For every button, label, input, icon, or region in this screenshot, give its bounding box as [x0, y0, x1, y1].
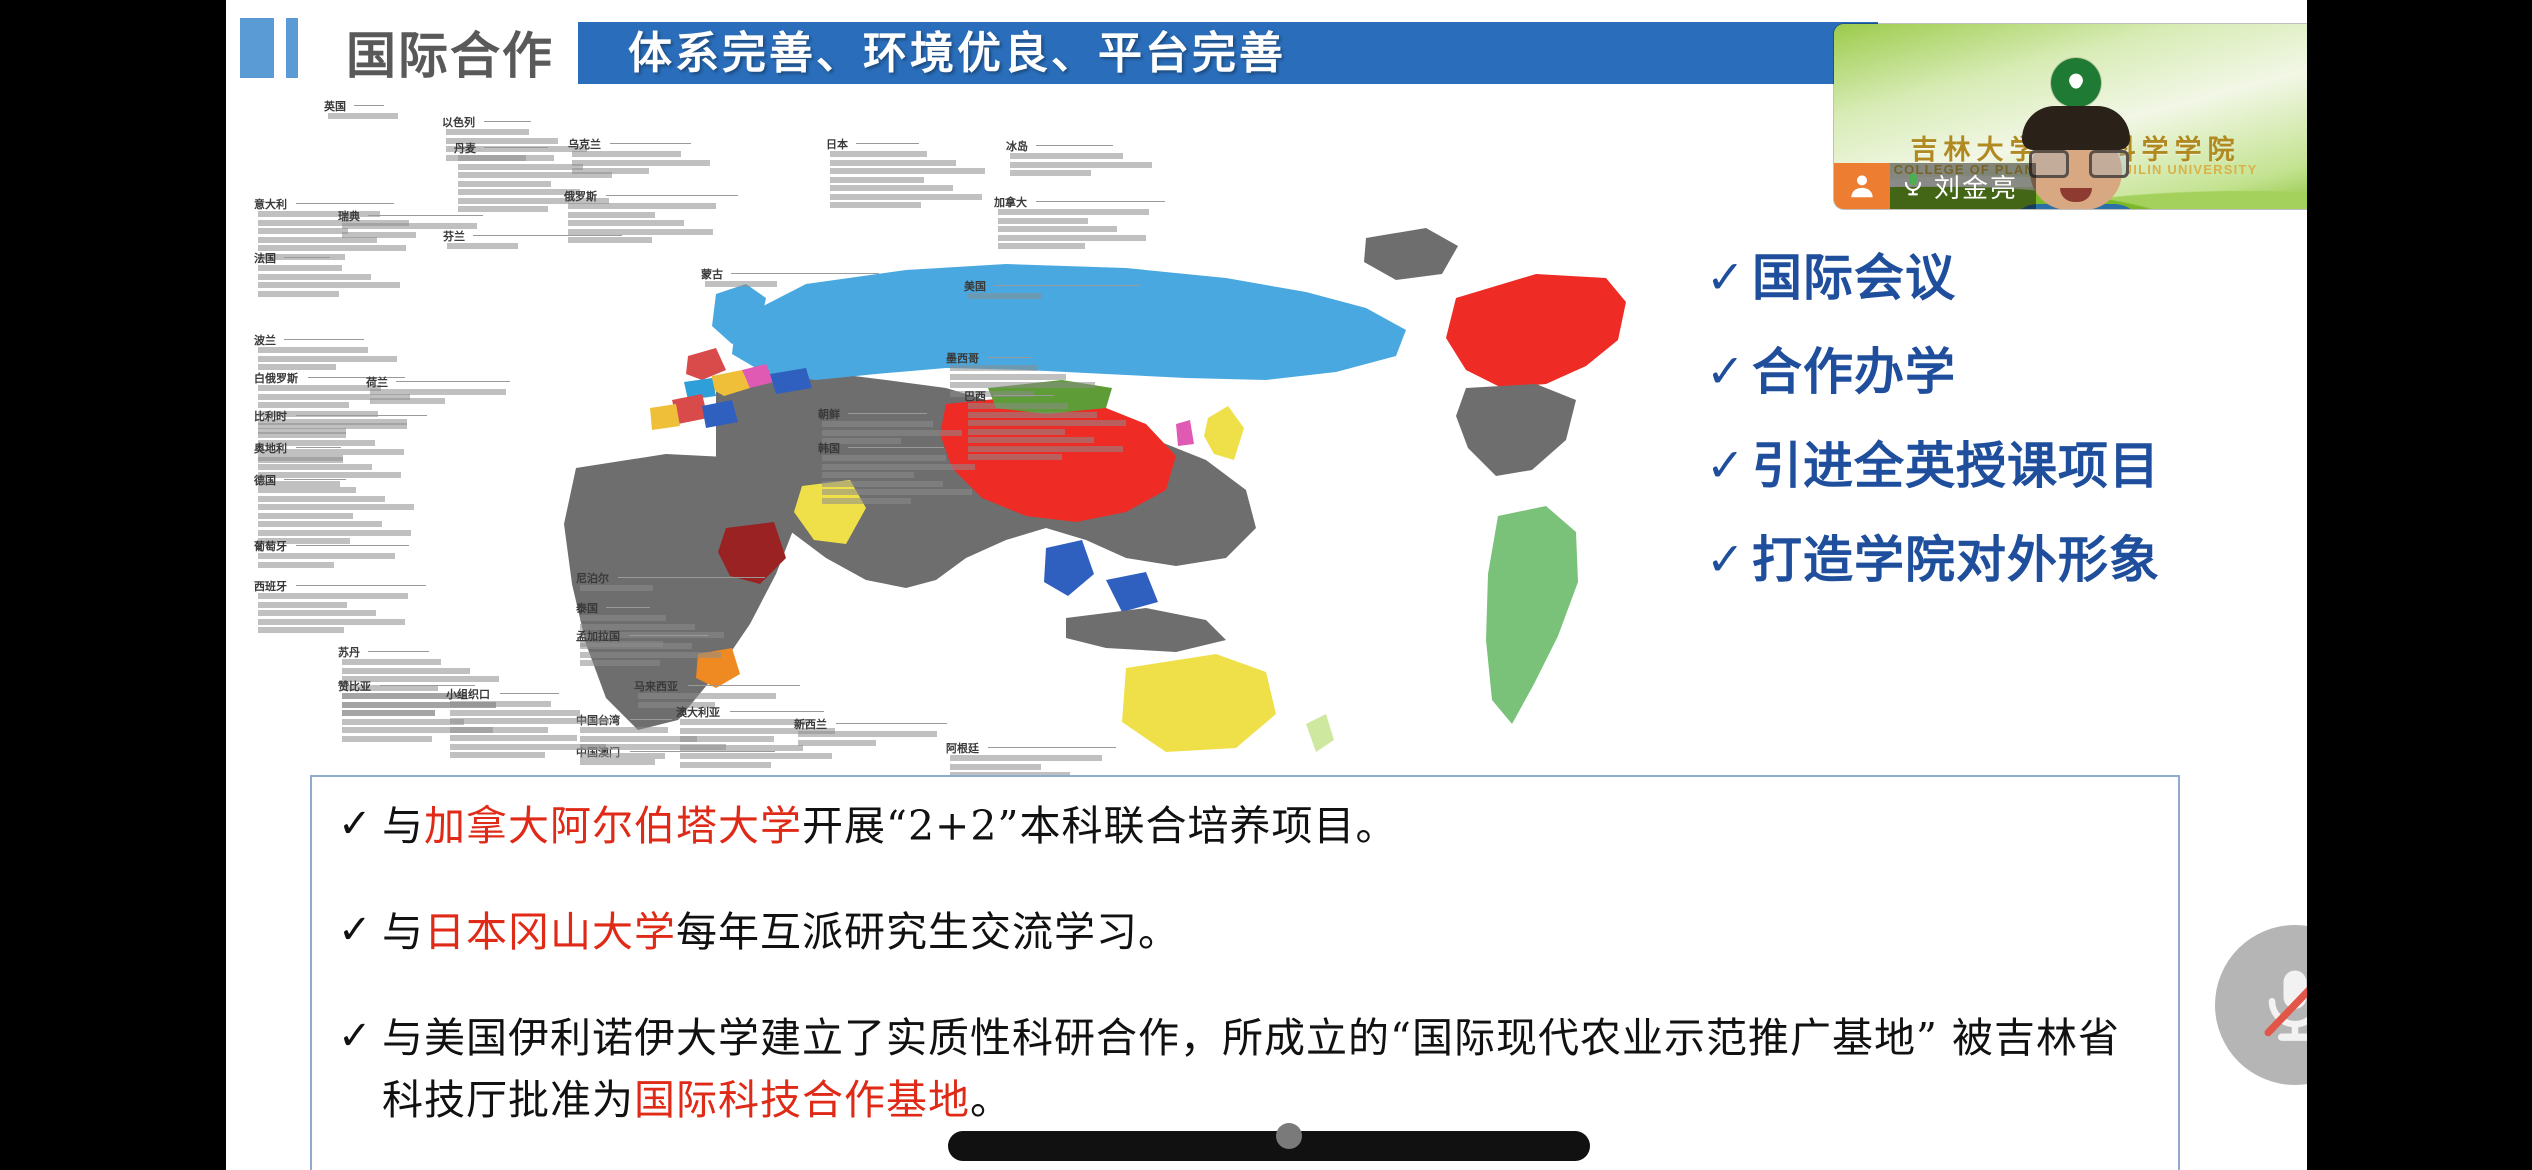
map-leader-line [856, 143, 919, 144]
map-country-label: 赞比亚 [338, 678, 371, 694]
map-leader-line [606, 607, 650, 608]
bullet-label: 打造学院对外形象 [1752, 532, 2160, 588]
map-leader-line [848, 447, 944, 448]
map-university-list [258, 553, 395, 570]
map-country-label: 比利时 [254, 408, 287, 424]
map-country-label: 白俄罗斯 [254, 370, 298, 386]
map-country-label: 尼泊尔 [576, 570, 609, 586]
map-university-list [447, 243, 518, 252]
check-icon: ✓ [338, 795, 382, 853]
map-leader-line [618, 577, 765, 578]
map-leader-line [354, 105, 384, 106]
map-country-label: 冰岛 [1006, 138, 1028, 154]
bullet-label: 引进全英授课项目 [1752, 438, 2160, 494]
map-leader-line [296, 203, 394, 204]
map-country-label: 新西兰 [794, 716, 827, 732]
check-icon: ✓ [338, 1007, 382, 1065]
world-map: 英国以色列丹麦乌克兰意大利瑞典俄罗斯芬兰法国日本波兰白俄罗斯荷兰比利时蒙古奥地利… [246, 88, 1626, 768]
map-leader-line [630, 719, 672, 720]
participant-video-tile[interactable]: 吉林大学植物科学学院 COLLEGE OF PLANT SCIENCE, JIL… [1834, 24, 2317, 209]
letterbox-left [0, 0, 226, 1170]
map-university-list [822, 421, 962, 447]
map-university-list [1010, 153, 1152, 179]
toolbar-handle-dot[interactable] [1276, 1123, 1302, 1149]
bullet-item-1: ✓国际会议 [1706, 250, 2286, 306]
map-country-label: 苏丹 [338, 644, 360, 660]
map-leader-line [988, 747, 1116, 748]
check-icon: ✓ [1706, 344, 1752, 398]
map-university-list [822, 455, 975, 506]
map-leader-line [296, 447, 341, 448]
map-leader-line [484, 147, 548, 148]
map-university-list [830, 151, 985, 211]
map-university-list [968, 293, 1042, 302]
note-text-segment: 与 [382, 802, 424, 850]
map-country-label: 阿根廷 [946, 740, 979, 756]
note-text: 与日本冈山大学每年互派研究生交流学习。 [382, 901, 1180, 963]
map-leader-line [994, 285, 1140, 286]
map-leader-line [368, 215, 483, 216]
participant-hair [2022, 106, 2130, 150]
map-leader-line [688, 685, 800, 686]
map-country-label: 葡萄牙 [254, 538, 287, 554]
map-university-list [258, 347, 397, 373]
letterbox-right [2307, 0, 2532, 1170]
map-university-list [568, 203, 716, 246]
note-text-segment: 。 [970, 1076, 1012, 1124]
bullet-item-3: ✓引进全英授课项目 [1706, 438, 2286, 494]
map-country-label: 巴西 [964, 388, 986, 404]
map-leader-line [296, 545, 409, 546]
bullet-item-4: ✓打造学院对外形象 [1706, 532, 2286, 588]
map-university-list [998, 209, 1149, 252]
note-text: 与加拿大阿尔伯塔大学开展“2+2”本科联合培养项目。 [382, 795, 1397, 857]
section-banner-text: 体系完善、环境优良、平台完善 [628, 26, 1878, 82]
map-leader-line [484, 121, 531, 122]
map-university-list [258, 265, 400, 299]
collapsed-meeting-toolbar[interactable] [948, 1131, 1590, 1161]
note-item-2: ✓与日本冈山大学每年互派研究生交流学习。 [312, 857, 2178, 963]
map-country-label: 美国 [964, 278, 986, 294]
map-country-label: 以色列 [442, 114, 475, 130]
map-leader-line [284, 479, 346, 480]
map-country-label: 加拿大 [994, 194, 1027, 210]
map-university-list [705, 281, 777, 290]
map-leader-line [500, 693, 559, 694]
title-decoration-bar-thin [286, 18, 298, 78]
map-country-label: 波兰 [254, 332, 276, 348]
map-country-label: 法国 [254, 250, 276, 266]
note-text: 与美国伊利诺伊大学建立了实质性科研合作，所成立的“国际现代农业示范推广基地” 被… [382, 1007, 2152, 1131]
microphone-icon [1900, 169, 1926, 204]
map-leader-line [473, 235, 622, 236]
highlighted-term: 日本冈山大学 [424, 908, 676, 956]
bullet-item-2: ✓合作办学 [1706, 344, 2286, 400]
highlighted-term: 国际科技合作基地 [634, 1076, 970, 1124]
map-country-label: 韩国 [818, 440, 840, 456]
map-country-label: 泰国 [576, 600, 598, 616]
note-text-segment: 每年互派研究生交流学习。 [676, 908, 1180, 956]
map-country-label: 德国 [254, 472, 276, 488]
bullet-label: 合作办学 [1752, 344, 1956, 400]
map-leader-line [731, 273, 879, 274]
avatar-icon [1834, 163, 1890, 209]
map-leader-line [284, 257, 330, 258]
note-text-segment: 开展“2+2”本科联合培养项目。 [802, 802, 1397, 850]
map-leader-line [396, 381, 510, 382]
slide-title: 国际合作 [346, 16, 554, 88]
check-icon: ✓ [1706, 532, 1752, 586]
map-university-list [580, 585, 653, 594]
map-leader-line [994, 395, 1054, 396]
note-item-1: ✓与加拿大阿尔伯塔大学开展“2+2”本科联合培养项目。 [312, 777, 2178, 857]
check-icon: ✓ [338, 901, 382, 959]
map-university-list [798, 731, 937, 748]
map-leader-line [606, 195, 738, 196]
note-item-3: ✓与美国伊利诺伊大学建立了实质性科研合作，所成立的“国际现代农业示范推广基地” … [312, 963, 2178, 1131]
map-country-label: 澳大利亚 [676, 704, 720, 720]
map-leader-line [610, 143, 691, 144]
map-university-list [328, 113, 398, 122]
map-university-list [258, 593, 408, 636]
map-leader-line [296, 415, 427, 416]
map-leader-line [1036, 201, 1165, 202]
highlighted-term: 加拿大阿尔伯塔大学 [424, 802, 802, 850]
check-icon: ✓ [1706, 250, 1752, 304]
map-country-label: 小组织口 [446, 686, 490, 702]
map-university-list [258, 455, 401, 489]
map-country-label: 孟加拉国 [576, 628, 620, 644]
college-logo-icon [2051, 58, 2101, 108]
map-leader-line [988, 357, 1031, 358]
map-country-label: 奥地利 [254, 440, 287, 456]
map-country-label: 俄罗斯 [564, 188, 597, 204]
map-leader-line [848, 413, 927, 414]
note-text-segment: 与 [382, 908, 424, 956]
map-leader-line [730, 711, 824, 712]
bullet-label: 国际会议 [1752, 250, 1956, 306]
map-leader-line [630, 635, 708, 636]
map-country-label: 荷兰 [366, 374, 388, 390]
check-icon: ✓ [1706, 438, 1752, 492]
map-leader-line [296, 585, 426, 586]
map-country-label: 西班牙 [254, 578, 287, 594]
map-country-label: 墨西哥 [946, 350, 979, 366]
map-country-label: 乌克兰 [568, 136, 601, 152]
participant-name-chip: 刘金亮 [1890, 163, 2036, 209]
map-leader-line [836, 723, 947, 724]
map-country-label: 日本 [826, 136, 848, 152]
map-university-list [968, 403, 1126, 463]
title-decoration-bar-wide [240, 18, 274, 78]
map-leader-line [1036, 145, 1113, 146]
partnership-note-box: ✓与加拿大阿尔伯塔大学开展“2+2”本科联合培养项目。✓与日本冈山大学每年互派研… [310, 775, 2180, 1170]
map-country-label: 意大利 [254, 196, 287, 212]
map-country-label: 芬兰 [443, 228, 465, 244]
map-country-label: 丹麦 [454, 140, 476, 156]
map-country-label: 蒙古 [701, 266, 723, 282]
map-university-list [370, 389, 506, 406]
map-leader-line [368, 651, 429, 652]
map-country-label: 瑞典 [338, 208, 360, 224]
map-university-list [450, 701, 609, 761]
map-country-label: 马来西亚 [634, 678, 678, 694]
map-university-list [572, 151, 710, 177]
map-leader-line [284, 339, 364, 340]
participant-name-label: 刘金亮 [1934, 168, 2018, 205]
map-country-label: 英国 [324, 98, 346, 114]
map-country-label: 朝鲜 [818, 406, 840, 422]
bullet-list: ✓国际会议✓合作办学✓引进全英授课项目✓打造学院对外形象 [1706, 250, 2286, 626]
screen-share-stage: 国际合作 体系完善、环境优良、平台完善 [0, 0, 2532, 1170]
map-university-list [580, 643, 721, 669]
map-leader-line [308, 377, 405, 378]
participant-name-bar: 刘金亮 [1834, 163, 2317, 209]
